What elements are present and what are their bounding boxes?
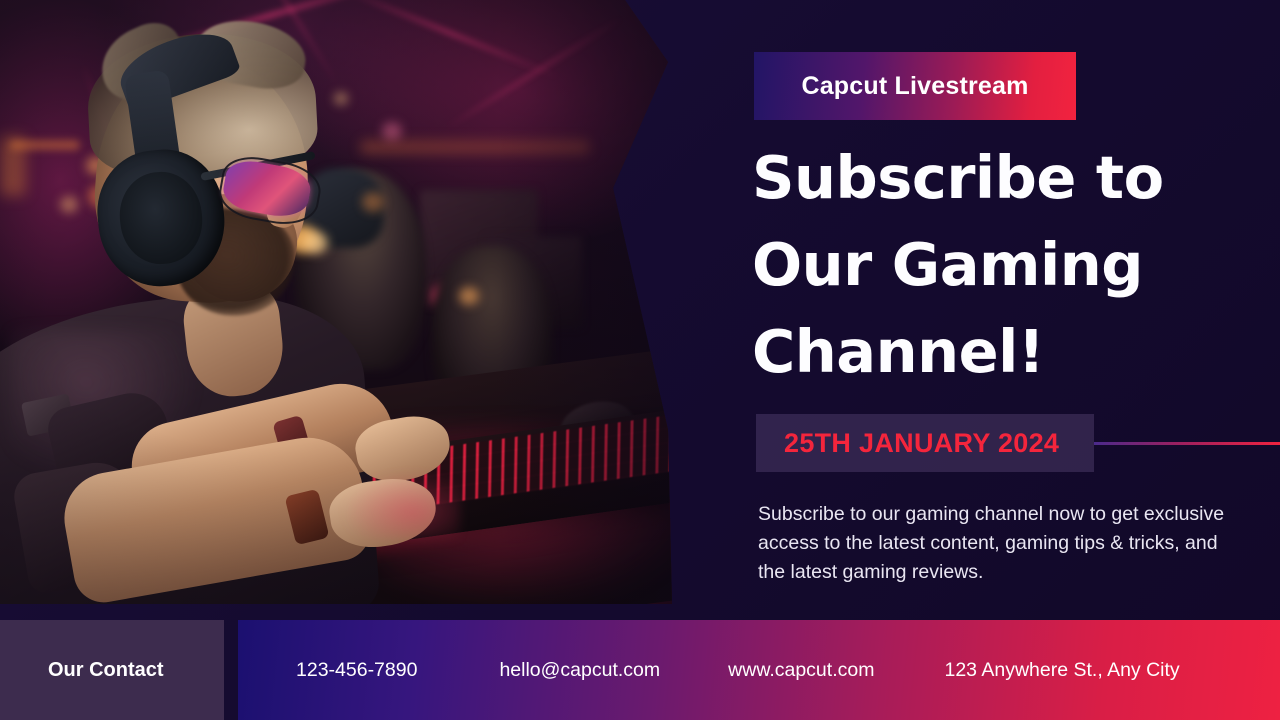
contact-label-block: Our Contact: [0, 620, 224, 720]
event-date-text: 25TH JANUARY 2024: [784, 428, 1059, 459]
contact-details-bar: 123-456-7890 hello@capcut.com www.capcut…: [238, 620, 1280, 720]
gaming-photo: [0, 0, 690, 620]
livestream-badge-label: Capcut Livestream: [801, 72, 1028, 101]
livestream-badge: Capcut Livestream: [754, 52, 1076, 120]
contact-address: 123 Anywhere St., Any City: [944, 659, 1179, 682]
description-text: Subscribe to our gaming channel now to g…: [758, 500, 1238, 587]
headline-line-2: Our Gaming: [752, 221, 1252, 308]
contact-phone[interactable]: 123-456-7890: [296, 659, 417, 682]
contact-email[interactable]: hello@capcut.com: [499, 659, 660, 682]
headline-line-3: Channel!: [752, 308, 1252, 395]
photo-vignette: [0, 0, 690, 620]
contact-website[interactable]: www.capcut.com: [728, 659, 874, 682]
event-date-bar: 25TH JANUARY 2024: [756, 414, 1094, 472]
promo-poster: Capcut Livestream Subscribe to Our Gamin…: [0, 0, 1280, 720]
headline-line-1: Subscribe to: [752, 134, 1252, 221]
page-title: Subscribe to Our Gaming Channel!: [752, 134, 1252, 395]
esports-arena-photo: [0, 0, 690, 620]
accent-line: [1094, 442, 1280, 445]
contact-label: Our Contact: [48, 659, 164, 682]
contact-footer: Our Contact 123-456-7890 hello@capcut.co…: [0, 620, 1280, 720]
